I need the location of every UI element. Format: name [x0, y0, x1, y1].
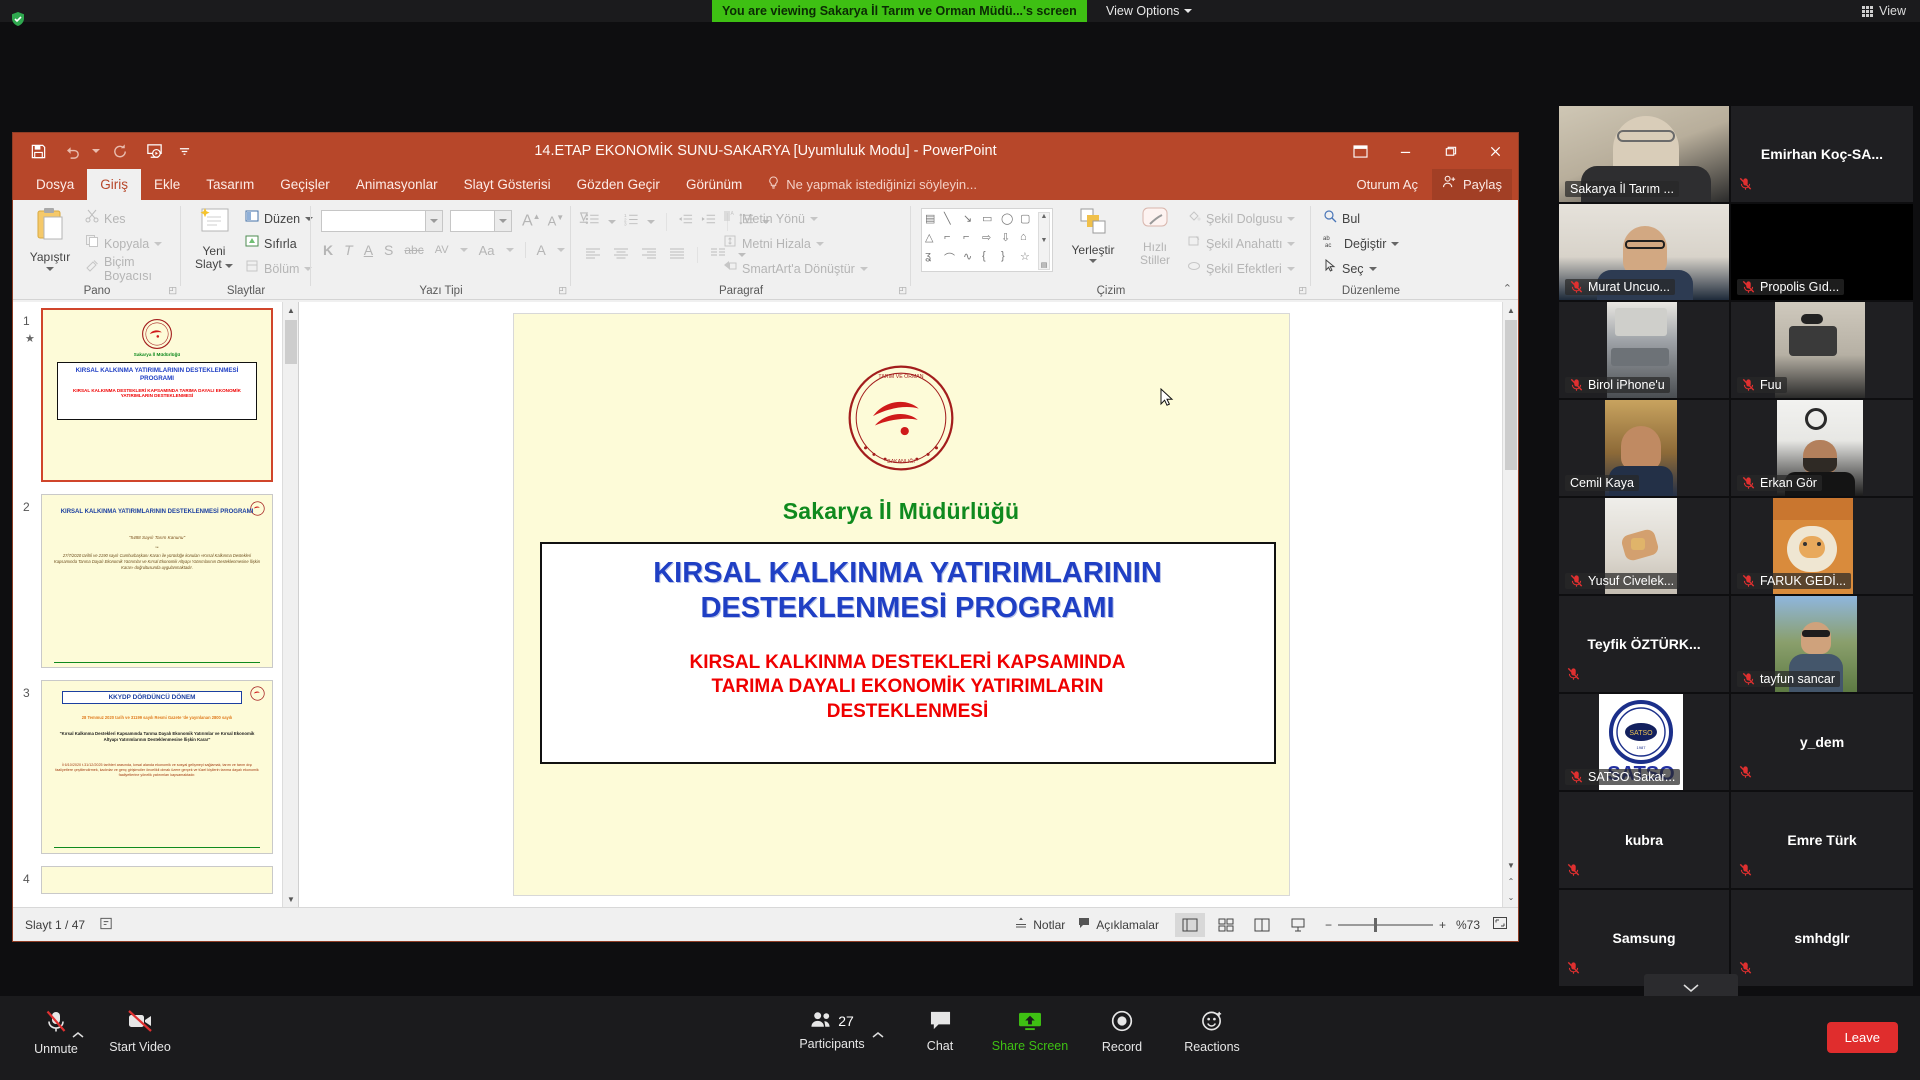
ribbon-tabs: Dosya Giriş Ekle Tasarım Geçişler Animas… — [13, 169, 1518, 200]
font-size-input[interactable] — [450, 210, 495, 232]
accessibility-icon[interactable] — [99, 916, 114, 934]
participant-name-text: Birol iPhone'u — [1588, 378, 1665, 392]
customize-qat-icon[interactable] — [171, 133, 197, 169]
powerpoint-title-bar: 14.ETAP EKONOMİK SUNU-SAKARYA [Uyumluluk… — [13, 133, 1518, 169]
sign-in-button[interactable]: Oturum Aç — [1347, 169, 1428, 200]
tab-gecisler[interactable]: Geçişler — [267, 169, 343, 200]
thumb2-body: 27/7/2020 tarihli ve 2190 sayılı Cumhurb… — [54, 553, 260, 571]
format-painter-button[interactable]: Biçim Boyacısı — [85, 258, 181, 279]
replace-button[interactable]: abac Değiştir — [1323, 233, 1399, 254]
quick-access-toolbar — [21, 133, 197, 169]
participants-button[interactable]: 27 Participants — [786, 1010, 878, 1051]
format-painter-label: Biçim Boyacısı — [104, 255, 181, 283]
participant-name: y_dem — [1731, 734, 1913, 750]
thumb3-body: İl 6/10/2020 t.31/12/2025 tarihleri aras… — [53, 763, 261, 779]
cut-button[interactable]: Kes — [85, 208, 181, 229]
shrink-font-icon[interactable]: A▼ — [548, 213, 565, 228]
participant-name-text: Murat Uncuo... — [1588, 280, 1670, 294]
participant-tile[interactable]: Murat Uncuo... — [1559, 204, 1729, 300]
record-button[interactable]: Record — [1076, 1010, 1168, 1054]
chat-icon — [929, 1010, 952, 1034]
elbow-shape-icon[interactable]: ⌐ — [944, 231, 963, 250]
ribbon-display-icon[interactable] — [1338, 133, 1383, 169]
reset-button[interactable]: Sıfırla — [245, 233, 313, 254]
thumbnail-2-number: 2 — [23, 500, 30, 514]
participant-tile[interactable]: Cemil Kaya — [1559, 400, 1729, 496]
select-dropdown-icon[interactable] — [1369, 267, 1377, 271]
thumbnail-1-animation-icon: ★ — [25, 332, 35, 345]
svg-text:ac: ac — [1325, 243, 1331, 248]
mic-muted-icon — [1742, 672, 1755, 686]
undo-dropdown-icon[interactable] — [89, 133, 103, 169]
mic-muted-icon — [1567, 961, 1580, 980]
arc-shape-icon[interactable]: ⌒ — [944, 250, 963, 269]
paragraph-dialog-launcher-icon[interactable]: ◰ — [898, 285, 907, 296]
slide-red-line-2: TARIMA DAYALI EKONOMİK YATIRIMLARIN — [542, 675, 1274, 700]
thumbnail-4-number: 4 — [23, 872, 30, 886]
shapes-scroll-up-icon[interactable]: ▲ — [1041, 213, 1048, 220]
leave-button[interactable]: Leave — [1827, 1022, 1898, 1053]
mouse-cursor — [1160, 388, 1174, 408]
tell-me-box[interactable]: Ne yapmak istediğinizi söyleyin... — [767, 169, 977, 200]
minimize-icon[interactable] — [1383, 133, 1428, 169]
people-icon — [810, 1010, 833, 1032]
mic-muted-icon — [1739, 863, 1752, 882]
shape-fill-icon — [1187, 209, 1201, 228]
audio-options-chevron-icon[interactable] — [72, 1026, 84, 1044]
window-controls — [1338, 133, 1518, 169]
next-slide-icon[interactable]: ⌄ — [1503, 889, 1519, 905]
leave-label: Leave — [1845, 1030, 1880, 1045]
increase-indent-icon[interactable] — [701, 212, 716, 231]
select-label: Seç — [1342, 262, 1364, 276]
svg-text:3: 3 — [624, 222, 627, 226]
reactions-button[interactable]: Reactions — [1166, 1010, 1258, 1054]
slide-thumbnail-pane[interactable]: 1 ★ Sakarya İl Müdürlüğü KIRSAL KALKINMA… — [13, 302, 299, 907]
person-add-icon — [1442, 169, 1457, 200]
tab-gozden-gecir[interactable]: Gözden Geçir — [564, 169, 673, 200]
thumb1-red: KIRSAL KALKINMA DESTEKLERİ KAPSAMINDA TA… — [61, 388, 253, 399]
star-shape-icon[interactable]: ☆ — [1020, 250, 1039, 269]
lightbulb-icon — [767, 176, 780, 193]
numbered-dropdown-icon[interactable] — [647, 220, 655, 224]
align-text-dropdown-icon[interactable] — [816, 242, 824, 246]
group-label-duzenleme: Düzenleme — [1311, 285, 1431, 297]
mic-muted-icon — [1567, 667, 1580, 686]
layout-label: Düzen — [264, 212, 300, 226]
participant-tile[interactable]: Fuu — [1731, 302, 1913, 398]
font-size-select[interactable] — [450, 210, 512, 232]
view-layout-button[interactable]: View — [1862, 0, 1906, 22]
character-spacing-button[interactable]: AV — [435, 244, 449, 256]
participant-tile[interactable]: Propolis Gıd... — [1731, 204, 1913, 300]
participant-name: Fuu — [1737, 377, 1787, 393]
reading-view-icon[interactable] — [1247, 913, 1277, 937]
cursor-icon — [1323, 259, 1337, 278]
start-video-label: Start Video — [109, 1040, 171, 1054]
quick-styles-label: Hızlı Stiller — [1127, 241, 1183, 267]
slideshow-icon[interactable] — [137, 133, 171, 169]
section-icon — [245, 259, 259, 278]
group-label-paragraf: Paragraf — [571, 285, 911, 297]
fit-slide-icon[interactable] — [1492, 916, 1508, 933]
copy-icon — [85, 234, 99, 253]
group-label-cizim: Çizim — [911, 285, 1311, 297]
participant-tile[interactable]: FARUK GEDİ... — [1731, 498, 1913, 594]
spacing-dropdown-icon[interactable] — [460, 248, 468, 252]
participants-count: 27 — [838, 1013, 854, 1029]
thumb-scroll-thumb[interactable] — [285, 320, 297, 364]
layout-button[interactable]: Düzen — [245, 208, 313, 229]
pentagon-shape-icon[interactable]: ⌂ — [1020, 231, 1039, 250]
tab-animasyonlar[interactable]: Animasyonlar — [343, 169, 451, 200]
participant-name-text: tayfun sancar — [1760, 672, 1835, 686]
strikethrough-button[interactable]: abc — [404, 243, 423, 257]
text-direction-label: Metin Yönü — [742, 212, 805, 226]
participant-name: Yusuf Civelek... — [1565, 573, 1679, 589]
arrange-label: Yerleştir — [1063, 243, 1123, 257]
scribble-shape-icon[interactable]: ʓ — [925, 250, 944, 269]
underline-button[interactable]: A — [364, 242, 373, 258]
participant-name: Erkan Gör — [1737, 475, 1822, 491]
smartart-dropdown-icon[interactable] — [860, 267, 868, 271]
zoom-top-bar: You are viewing Sakarya İl Tarım ve Orma… — [0, 0, 1920, 22]
new-slide-button[interactable]: Yeni Slayt — [189, 206, 239, 271]
participant-tile[interactable]: Teyfik ÖZTÜRK... — [1559, 596, 1729, 692]
font-color-button[interactable]: A — [537, 242, 546, 258]
align-right-icon[interactable] — [641, 246, 657, 264]
thumbnail-2-image[interactable]: KIRSAL KALKINMA YATIRIMLARININ DESTEKLEN… — [41, 494, 273, 668]
participants-chevron-icon[interactable] — [872, 1026, 884, 1044]
shape-outline-button[interactable]: Şekil Anahattı — [1187, 233, 1295, 254]
slide-scrollbar[interactable]: ▲ ▼ ⌃ ⌄ — [1502, 302, 1518, 907]
participant-tile[interactable]: Samsung — [1559, 890, 1729, 986]
participant-name: Teyfik ÖZTÜRK... — [1559, 636, 1729, 652]
numbered-list-icon[interactable]: 123 — [624, 212, 639, 231]
participant-name: Birol iPhone'u — [1565, 377, 1670, 393]
reset-label: Sıfırla — [264, 237, 297, 251]
participant-name: Propolis Gıd... — [1737, 279, 1844, 295]
copy-button[interactable]: Kopyala — [85, 233, 181, 254]
slide-canvas-area[interactable]: TARIM VE ORMAN BAKANLIĞI Sakarya İl Müdü… — [300, 302, 1502, 907]
participant-name: Cemil Kaya — [1565, 475, 1639, 491]
quick-styles-button[interactable]: Hızlı Stiller — [1127, 206, 1183, 267]
group-label-pano: Pano — [13, 285, 181, 297]
replace-dropdown-icon[interactable] — [1391, 242, 1399, 246]
columns-dropdown-icon[interactable] — [738, 253, 746, 257]
shape-effects-label: Şekil Efektleri — [1206, 262, 1282, 276]
participant-tile[interactable]: tayfun sancar — [1731, 596, 1913, 692]
align-left-icon[interactable] — [585, 246, 601, 264]
participant-name: Samsung — [1559, 930, 1729, 946]
tab-giris[interactable]: Giriş — [87, 169, 141, 200]
ribbon-group-cizim: ▤ ╲ ↘ ▭ ◯ ▢ △ ⌐ ⌐ ⇨ ⇩ ⌂ ʓ ⌒ ∿ { } — [911, 200, 1311, 300]
participant-tile[interactable]: y_dem — [1731, 694, 1913, 790]
group-label-slaytlar: Slaytlar — [181, 285, 311, 297]
account-area: Oturum Aç Paylaş — [1347, 169, 1512, 200]
share-screen-icon — [1017, 1010, 1043, 1034]
zoom-in-button[interactable]: + — [1439, 918, 1446, 932]
thumbnail-3-image[interactable]: KKYDP DÖRDÜNCÜ DÖNEM 28 Temmuz 2020 tari… — [41, 680, 273, 854]
arrow-shape-icon[interactable]: ↘ — [963, 212, 982, 231]
mic-muted-icon — [1742, 378, 1755, 392]
thumb1-green: Sakarya İl Müdürlüğü — [43, 352, 271, 357]
participant-gallery: Sakarya İl Tarım ... Emirhan Koç-SA... M… — [1559, 106, 1913, 966]
slide-scroll-up-icon[interactable]: ▲ — [1503, 302, 1519, 318]
copy-label: Kopyala — [104, 237, 149, 251]
thumbnail-1-number: 1 — [23, 314, 30, 328]
save-icon[interactable] — [21, 133, 55, 169]
participant-tile[interactable]: SATSO 1987 SATSO SATSO Sakar... — [1559, 694, 1729, 790]
thumb2-sub: "5488 Sayılı Tarım Kanunu" — [52, 535, 262, 540]
mic-muted-icon — [1742, 574, 1755, 588]
participant-tile[interactable]: Erkan Gör — [1731, 400, 1913, 496]
bullet-dropdown-icon[interactable] — [608, 220, 616, 224]
shape-outline-icon — [1187, 234, 1201, 253]
participant-name-text: Yusuf Civelek... — [1588, 574, 1674, 588]
shapes-scroll-down-icon[interactable]: ▼ — [1041, 237, 1048, 244]
thumb3-bold: "Kırsal Kalkınma Destekleri Kapsamında T… — [53, 731, 261, 743]
redo-icon[interactable] — [103, 133, 137, 169]
arrange-dropdown-icon[interactable] — [1089, 259, 1097, 263]
start-video-button[interactable]: Start Video — [94, 1010, 186, 1054]
shapes-scrollbar[interactable]: ▲ ▼ ▤ — [1038, 212, 1050, 270]
group-label-yazi-tipi: Yazı Tipi — [311, 285, 571, 297]
participant-name-text: FARUK GEDİ... — [1760, 574, 1846, 588]
participant-name-text: Propolis Gıd... — [1760, 280, 1839, 294]
unmute-button[interactable]: Unmute — [10, 1010, 102, 1056]
mic-muted-icon — [1739, 765, 1752, 784]
italic-button[interactable]: T — [344, 242, 353, 258]
thumb-scroll-down-icon[interactable]: ▼ — [283, 891, 299, 907]
text-direction-dropdown-icon[interactable] — [810, 217, 818, 221]
arrange-button[interactable]: Yerleştir — [1063, 206, 1123, 263]
comments-label: Açıklamalar — [1096, 918, 1159, 932]
tab-ekle[interactable]: Ekle — [141, 169, 193, 200]
reactions-label: Reactions — [1184, 1040, 1240, 1054]
slide-green-text: Sakarya İl Müdürlüğü — [514, 498, 1289, 525]
restore-icon[interactable] — [1428, 133, 1473, 169]
shape-fill-dropdown-icon[interactable] — [1287, 217, 1295, 221]
convert-smartart-label: SmartArt'a Dönüştür — [742, 262, 855, 276]
replace-label: Değiştir — [1344, 237, 1386, 251]
zoom-slider[interactable] — [1338, 924, 1433, 926]
participant-name: Sakarya İl Tarım ... — [1565, 181, 1679, 197]
elbow-arrow-shape-icon[interactable]: ⌐ — [963, 231, 982, 250]
unmute-label: Unmute — [34, 1042, 78, 1056]
shape-fill-label: Şekil Dolgusu — [1206, 212, 1282, 226]
participant-tile[interactable]: kubra — [1559, 792, 1729, 888]
shape-effects-dropdown-icon[interactable] — [1287, 267, 1295, 271]
grid-icon — [1862, 6, 1873, 17]
slide-counter[interactable]: Slayt 1 / 47 — [25, 918, 85, 932]
screen-share-notice-text: You are viewing Sakarya İl Tarım ve Orma… — [722, 4, 1077, 18]
comments-button[interactable]: Açıklamalar — [1077, 916, 1159, 933]
chat-label: Chat — [927, 1039, 953, 1053]
thumbnail-4[interactable]: 4 — [13, 860, 298, 900]
slide-blue-line-2: DESTEKLENMESİ PROGRAMI — [542, 591, 1274, 626]
mic-muted-icon — [45, 1010, 67, 1037]
normal-view-icon[interactable] — [1175, 913, 1205, 937]
paste-button[interactable]: Yapıştır — [19, 206, 81, 271]
pano-dialog-launcher-icon[interactable]: ◰ — [168, 285, 177, 296]
share-label: Paylaş — [1463, 169, 1502, 200]
section-button[interactable]: Bölüm — [245, 258, 313, 279]
participant-tile[interactable]: Sakarya İl Tarım ... — [1559, 106, 1729, 202]
shape-outline-label: Şekil Anahattı — [1206, 237, 1282, 251]
text-direction-button[interactable]: A Metin Yönü — [723, 208, 868, 229]
paste-dropdown-icon[interactable] — [46, 267, 54, 271]
font-size-dropdown-icon[interactable] — [495, 210, 512, 232]
close-icon[interactable] — [1473, 133, 1518, 169]
chevron-down-icon — [1682, 983, 1700, 993]
participant-tile[interactable]: Emre Türk — [1731, 792, 1913, 888]
thumbnail-2[interactable]: 2 KIRSAL KALKINMA YATIRIMLARININ DESTEKL… — [13, 488, 298, 674]
paste-label: Yapıştır — [19, 251, 81, 264]
copy-dropdown-icon[interactable] — [154, 242, 162, 246]
svg-text:ab: ab — [1323, 236, 1330, 242]
reset-icon — [245, 234, 259, 253]
text-shadow-button[interactable]: S — [384, 242, 393, 258]
thumb3-orange: 28 Temmuz 2020 tarih ve 31199 sayılı Res… — [53, 715, 261, 721]
oval-shape-icon[interactable]: ◯ — [1001, 212, 1020, 231]
right-arrow-shape-icon[interactable]: ⇨ — [982, 231, 1001, 250]
left-brace-shape-icon[interactable]: { — [982, 250, 1001, 269]
new-slide-dropdown-icon[interactable] — [225, 264, 233, 268]
thumbnail-scrollbar[interactable]: ▲ ▼ — [282, 302, 298, 907]
find-button[interactable]: Bul — [1323, 208, 1399, 229]
participant-tile[interactable]: Emirhan Koç-SA... — [1731, 106, 1913, 202]
thumbnail-4-image[interactable] — [41, 866, 273, 894]
right-brace-shape-icon[interactable]: } — [1001, 250, 1020, 269]
rectangle-shape-icon[interactable]: ▭ — [982, 212, 1001, 231]
participant-tile[interactable]: Birol iPhone'u — [1559, 302, 1729, 398]
undo-icon[interactable] — [55, 133, 89, 169]
slideshow-view-icon[interactable] — [1283, 913, 1313, 937]
mic-muted-icon — [1742, 280, 1755, 294]
zoom-bottom-toolbar: Unmute Start Video 27 Participants Chat … — [0, 996, 1920, 1080]
bullet-list-icon[interactable] — [585, 212, 600, 231]
zoom-level[interactable]: %73 — [1456, 918, 1480, 932]
previous-slide-icon[interactable]: ⌃ — [1503, 873, 1519, 889]
powerpoint-window: 14.ETAP EKONOMİK SUNU-SAKARYA [Uyumluluk… — [13, 133, 1518, 941]
shapes-gallery[interactable]: ▤ ╲ ↘ ▭ ◯ ▢ △ ⌐ ⌐ ⇨ ⇩ ⌂ ʓ ⌒ ∿ { } — [925, 212, 1049, 269]
thumb1-blue: KIRSAL KALKINMA YATIRIMLARININ DESTEKLEN… — [61, 367, 253, 383]
share-screen-button[interactable]: Share Screen — [984, 1010, 1076, 1053]
mic-muted-icon — [1739, 961, 1752, 980]
thumbnail-1[interactable]: 1 ★ Sakarya İl Müdürlüğü KIRSAL KALKINMA… — [13, 302, 298, 488]
curve-shape-icon[interactable]: ∿ — [963, 250, 982, 269]
tab-slayt-gosterisi[interactable]: Slayt Gösterisi — [451, 169, 564, 200]
svg-text:BAKANLIĞI: BAKANLIĞI — [887, 458, 915, 465]
record-label: Record — [1102, 1040, 1142, 1054]
collapse-ribbon-icon[interactable]: ⌃ — [1503, 282, 1512, 295]
slide-text-box[interactable]: KIRSAL KALKINMA YATIRIMLARININ DESTEKLEN… — [540, 542, 1276, 764]
down-arrow-shape-icon[interactable]: ⇩ — [1001, 231, 1020, 250]
view-options-button[interactable]: View Options — [1098, 0, 1200, 22]
shape-fill-button[interactable]: Şekil Dolgusu — [1187, 208, 1295, 229]
case-dropdown-icon[interactable] — [506, 248, 514, 252]
select-button[interactable]: Seç — [1323, 258, 1399, 279]
shape-outline-dropdown-icon[interactable] — [1287, 242, 1295, 246]
shapes-more-icon[interactable]: ▤ — [1041, 261, 1048, 269]
decrease-indent-icon[interactable] — [678, 212, 693, 231]
notes-button[interactable]: Notlar — [1014, 916, 1065, 933]
record-icon — [1111, 1010, 1133, 1035]
participant-tile[interactable]: Yusuf Civelek... — [1559, 498, 1729, 594]
ribbon-group-pano: Yapıştır Kes Kopyala Biçim Boyacısı — [13, 200, 181, 300]
participant-name: Emre Türk — [1731, 832, 1913, 848]
slide-scroll-thumb[interactable] — [1505, 320, 1517, 470]
view-options-label: View Options — [1106, 4, 1179, 18]
participant-name: Murat Uncuo... — [1565, 279, 1675, 295]
share-screen-label: Share Screen — [992, 1039, 1068, 1053]
participant-name: Emirhan Koç-SA... — [1731, 146, 1913, 162]
participant-name: smhdglr — [1731, 930, 1913, 946]
tab-tasarim[interactable]: Tasarım — [193, 169, 267, 200]
thumb1-emblem-icon — [43, 318, 271, 355]
mic-muted-icon — [1567, 863, 1580, 882]
change-case-button[interactable]: Aa — [479, 243, 495, 258]
grow-font-icon[interactable]: A▲ — [522, 212, 541, 230]
layout-icon — [245, 209, 259, 228]
bold-button[interactable]: K — [323, 242, 333, 258]
share-button[interactable]: Paylaş — [1432, 169, 1512, 200]
justify-icon[interactable] — [669, 246, 685, 264]
font-family-select[interactable] — [321, 210, 443, 232]
zoom-slider-knob[interactable] — [1374, 918, 1377, 932]
align-center-icon[interactable] — [613, 246, 629, 264]
zoom-out-button[interactable]: − — [1325, 918, 1332, 932]
shield-icon — [10, 11, 26, 27]
drawing-dialog-launcher-icon[interactable]: ◰ — [1298, 285, 1307, 296]
window-title: 14.ETAP EKONOMİK SUNU-SAKARYA [Uyumluluk… — [13, 133, 1518, 169]
tab-dosya[interactable]: Dosya — [23, 169, 87, 200]
cut-label: Kes — [104, 212, 126, 226]
section-label: Bölüm — [264, 262, 299, 276]
thumb-scroll-up-icon[interactable]: ▲ — [283, 302, 299, 318]
thumbnail-3[interactable]: 3 KKYDP DÖRDÜNCÜ DÖNEM 28 Temmuz 2020 ta… — [13, 674, 298, 860]
triangle-shape-icon[interactable]: △ — [925, 231, 944, 250]
comment-icon — [1077, 916, 1091, 933]
svg-text:SATSO: SATSO — [1629, 730, 1653, 737]
chat-button[interactable]: Chat — [894, 1010, 986, 1053]
new-slide-label: Yeni Slayt — [195, 244, 225, 271]
mic-muted-icon — [1570, 574, 1583, 588]
font-family-dropdown-icon[interactable] — [426, 210, 443, 232]
font-dialog-launcher-icon[interactable]: ◰ — [558, 285, 567, 296]
thumbnail-1-image[interactable]: Sakarya İl Müdürlüğü KIRSAL KALKINMA YAT… — [41, 308, 273, 482]
shape-effects-button[interactable]: Şekil Efektleri — [1187, 258, 1295, 279]
svg-text:1987: 1987 — [1637, 745, 1647, 750]
slide-sorter-icon[interactable] — [1211, 913, 1241, 937]
ribbon: Yapıştır Kes Kopyala Biçim Boyacısı — [13, 200, 1518, 300]
rounded-rect-shape-icon[interactable]: ▢ — [1020, 212, 1039, 231]
line-shape-icon[interactable]: ╲ — [944, 212, 963, 231]
participant-name-text: SATSO Sakar... — [1588, 770, 1675, 784]
thumb2-heading: KIRSAL KALKINMA YATIRIMLARININ DESTEKLEN… — [52, 509, 262, 517]
font-color-dropdown-icon[interactable] — [557, 248, 565, 252]
participants-label: Participants — [799, 1037, 864, 1051]
slide-scroll-down-icon[interactable]: ▼ — [1503, 857, 1519, 873]
columns-icon[interactable] — [710, 246, 726, 264]
participant-tile[interactable]: smhdglr — [1731, 890, 1913, 986]
textbox-shape-icon[interactable]: ▤ — [925, 212, 944, 231]
tab-gorunum[interactable]: Görünüm — [673, 169, 755, 200]
reactions-icon — [1201, 1010, 1224, 1035]
font-family-input[interactable] — [321, 210, 426, 232]
participant-name-text: Erkan Gör — [1760, 476, 1817, 490]
